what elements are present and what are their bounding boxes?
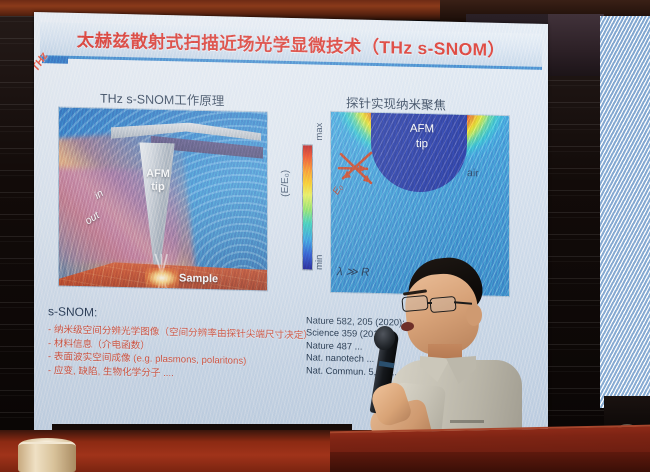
snom-summary-block: s-SNOM: - 纳米级空间分辨光学图像（空间分辨率由探针尖端尺寸决定） - … bbox=[48, 304, 348, 384]
sim-tip-label: AFM tip bbox=[389, 121, 455, 153]
colorbar-gradient bbox=[302, 144, 313, 270]
snom-block-title: s-SNOM: bbox=[48, 304, 348, 325]
glasses-left-lens bbox=[401, 295, 428, 312]
shirt-pocket bbox=[450, 420, 484, 423]
near-field-hotspot bbox=[145, 268, 179, 289]
wall-panel-top-right bbox=[548, 14, 604, 76]
field-colorbar: (E/E₀) max min bbox=[274, 114, 328, 293]
afm-tip-label-line1: AFM bbox=[135, 167, 181, 181]
polarization-arrows-icon bbox=[337, 148, 385, 201]
figure-afm-schematic: AFM tip Sample in out bbox=[58, 107, 268, 292]
bright-wall-column bbox=[600, 16, 650, 408]
foreground-object bbox=[18, 442, 76, 472]
sim-tip-label-line1: AFM bbox=[389, 121, 455, 138]
slide-title-band: 太赫兹散射式扫描近场光学显微技术（THz s-SNOM） bbox=[40, 22, 542, 70]
podium-front bbox=[330, 452, 650, 472]
slide-title: 太赫兹散射式扫描近场光学显微技术（THz s-SNOM） bbox=[77, 27, 505, 62]
glasses-bridge bbox=[427, 302, 432, 304]
sim-tip-label-line2: tip bbox=[389, 136, 455, 153]
afm-tip-label-line2: tip bbox=[135, 180, 181, 194]
section-heading-left: THz s-SNOM工作原理 bbox=[100, 87, 224, 109]
section-heading-right: 探针实现纳米聚焦 bbox=[346, 92, 446, 113]
colorbar-max-label: max bbox=[314, 123, 325, 141]
sample-label: Sample bbox=[179, 272, 218, 285]
air-label: air bbox=[467, 167, 479, 179]
colorbar-min-label: min bbox=[314, 255, 325, 271]
afm-tip-label: AFM tip bbox=[135, 167, 181, 194]
wavelength-condition-label: λ ≫ R bbox=[337, 264, 369, 279]
presentation-photo-scene: 太赫兹散射式扫描近场光学显微技术（THz s-SNOM） THz s-SNOM工… bbox=[0, 0, 650, 472]
glasses-right-lens bbox=[429, 296, 456, 313]
speaker-ear bbox=[466, 304, 482, 326]
colorbar-axis-label: (E/E₀) bbox=[280, 170, 291, 197]
